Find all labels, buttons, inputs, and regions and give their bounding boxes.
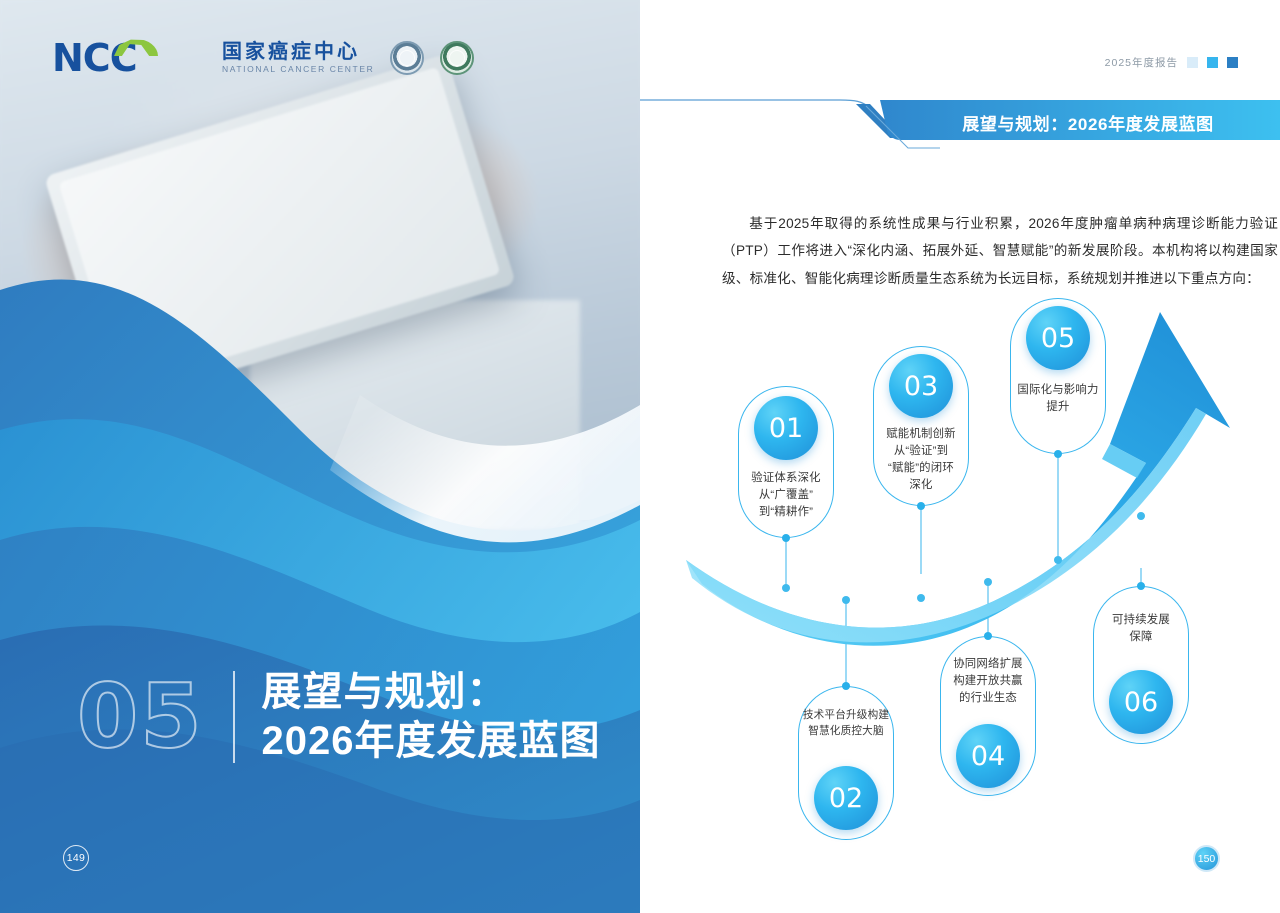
node-04-line-3: 的行业生态 (940, 690, 1036, 707)
node-03-number-circle: 03 (889, 354, 953, 418)
header-square-1 (1187, 57, 1198, 68)
roadmap-node-01[interactable]: 01 验证体系深化 从“广覆盖” 到“精耕作” (738, 386, 834, 538)
node-05-line-2: 提升 (1010, 399, 1106, 416)
node-05-number: 05 (1041, 323, 1075, 354)
section-title-line-2: 2026年度发展蓝图 (261, 717, 600, 766)
wave-decoration (0, 0, 640, 913)
node-01-line-3: 到“精耕作” (738, 504, 834, 521)
node-02-number-circle: 02 (814, 766, 878, 830)
node-04-line-2: 构建开放共赢 (940, 673, 1036, 690)
right-page: 2025年度报告 展望与规划：2026年度发展蓝图 基于2025年取得的系统性成… (640, 0, 1280, 913)
banner-title: 展望与规划：2026年度发展蓝图 (938, 110, 1238, 135)
ncc-name-block: 国家癌症中心 NATIONAL CANCER CENTER (222, 41, 374, 75)
node-06-line-2: 保障 (1093, 629, 1189, 646)
institution-emblem-green-icon (440, 41, 474, 75)
roadmap-node-02[interactable]: 技术平台升级构建 智慧化质控大脑 02 (798, 686, 894, 840)
node-02-connector-dot (842, 682, 850, 690)
node-03-line-3: “赋能”的闭环 (873, 460, 969, 477)
section-title-block: 05 展望与规划： 2026年度发展蓝图 (77, 668, 600, 766)
node-02-number: 02 (829, 783, 863, 814)
node-04-number-circle: 04 (956, 724, 1020, 788)
node-05-line-1: 国际化与影响力 (1010, 382, 1106, 399)
node-04-number: 04 (971, 741, 1005, 772)
section-title-line-1: 展望与规划： (261, 668, 600, 717)
node-06-line-1: 可持续发展 (1093, 612, 1189, 629)
page-number-right: 150 (1193, 845, 1220, 872)
ncc-logo: NCC 国家癌症中心 NATIONAL CANCER CENTER (52, 36, 474, 80)
running-header: 2025年度报告 (1105, 55, 1238, 70)
section-banner: 展望与规划：2026年度发展蓝图 (640, 88, 1280, 150)
ncc-name-cn: 国家癌症中心 (222, 41, 374, 63)
roadmap-node-04[interactable]: 协同网络扩展 构建开放共赢 的行业生态 04 (940, 636, 1036, 796)
node-04-connector-dot (984, 632, 992, 640)
section-number: 05 (77, 673, 203, 761)
node-01-text: 验证体系深化 从“广覆盖” 到“精耕作” (738, 470, 834, 521)
node-03-line-4: 深化 (873, 477, 969, 494)
node-06-text: 可持续发展 保障 (1093, 612, 1189, 646)
node-01-number-circle: 01 (754, 396, 818, 460)
node-03-line-1: 赋能机制创新 (873, 426, 969, 443)
node-01-line-2: 从“广覆盖” (738, 487, 834, 504)
header-square-3 (1227, 57, 1238, 68)
roadmap-node-03[interactable]: 03 赋能机制创新 从“验证”到 “赋能”的闭环 深化 (873, 346, 969, 506)
roadmap-node-06[interactable]: 可持续发展 保障 06 (1093, 586, 1189, 744)
running-header-label: 2025年度报告 (1105, 55, 1178, 70)
node-03-text: 赋能机制创新 从“验证”到 “赋能”的闭环 深化 (873, 426, 969, 494)
node-01-connector-dot (782, 534, 790, 542)
node-04-line-1: 协同网络扩展 (940, 656, 1036, 673)
node-06-connector-dot (1137, 582, 1145, 590)
node-02-line-1: 技术平台升级构建 (798, 708, 894, 724)
node-01-line-1: 验证体系深化 (738, 470, 834, 487)
title-divider (233, 671, 235, 763)
page-number-left: 149 (63, 845, 89, 871)
node-02-line-2: 智慧化质控大脑 (798, 724, 894, 740)
roadmap-node-05[interactable]: 05 国际化与影响力 提升 (1010, 298, 1106, 454)
ncc-wordmark: NCC (52, 36, 212, 80)
node-06-number: 06 (1124, 687, 1158, 718)
node-03-line-2: 从“验证”到 (873, 443, 969, 460)
node-06-number-circle: 06 (1109, 670, 1173, 734)
section-title: 展望与规划： 2026年度发展蓝图 (261, 668, 600, 766)
ncc-name-en: NATIONAL CANCER CENTER (222, 63, 374, 75)
node-03-connector-dot (917, 502, 925, 510)
node-04-text: 协同网络扩展 构建开放共赢 的行业生态 (940, 656, 1036, 707)
header-square-2 (1207, 57, 1218, 68)
node-01-number: 01 (769, 413, 803, 444)
roadmap-diagram: 01 验证体系深化 从“广覆盖” 到“精耕作” 03 赋能机制创新 从“验证”到 (640, 268, 1280, 868)
node-05-text: 国际化与影响力 提升 (1010, 382, 1106, 416)
node-03-number: 03 (904, 371, 938, 402)
node-05-connector-dot (1054, 450, 1062, 458)
institution-emblem-blue-icon (390, 41, 424, 75)
node-02-text: 技术平台升级构建 智慧化质控大脑 (798, 708, 894, 739)
report-spread: NCC 国家癌症中心 NATIONAL CANCER CENTER 05 展望与… (0, 0, 1280, 913)
left-page: NCC 国家癌症中心 NATIONAL CANCER CENTER 05 展望与… (0, 0, 640, 913)
node-05-number-circle: 05 (1026, 306, 1090, 370)
